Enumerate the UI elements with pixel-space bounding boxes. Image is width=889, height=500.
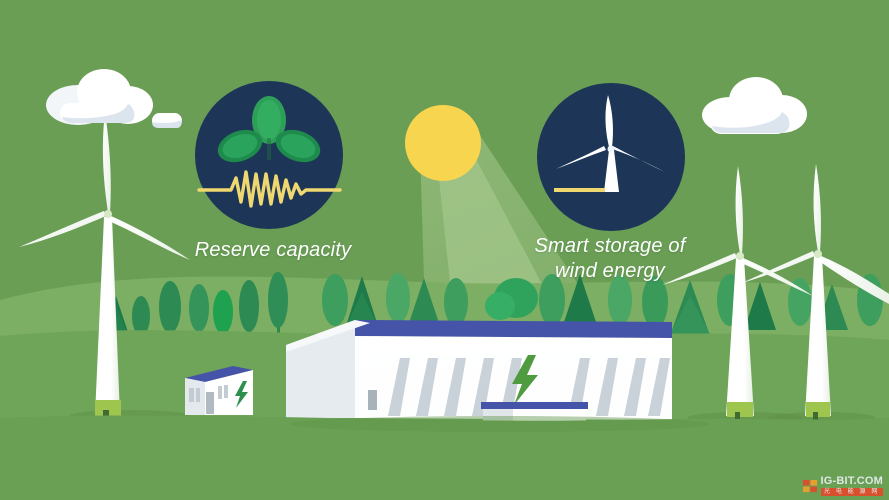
house-gable-wall [185, 378, 205, 415]
watermark: IG-BIT.COM 光 电 能 源 网 [803, 476, 884, 496]
house-door [206, 392, 214, 414]
turbine-hub [104, 210, 112, 218]
tree [386, 273, 410, 323]
building-roof [344, 320, 672, 338]
watermark-subtitle: 光 电 能 源 网 [821, 488, 884, 496]
turbine-hub [814, 250, 822, 258]
building-ground-shadow [290, 416, 710, 432]
icon-smart-storage [537, 83, 685, 231]
icon-reserve-capacity [195, 81, 343, 229]
tree [322, 274, 348, 326]
scene-artwork [0, 0, 889, 500]
annex-roof [481, 402, 588, 409]
tree [444, 278, 468, 326]
label-smart-storage: Smart storage of wind energy [480, 234, 740, 284]
small-cloud-icon [152, 113, 182, 128]
sun-icon [405, 105, 481, 181]
building-door [368, 390, 377, 410]
watermark-domain: IG-BIT.COM [821, 476, 884, 487]
label-reserve-capacity: Reserve capacity [168, 238, 378, 263]
illustration-scene: Reserve capacity Smart storage of wind e… [0, 0, 889, 500]
turbine-hub [608, 146, 615, 153]
watermark-text: IG-BIT.COM 光 电 能 源 网 [821, 476, 884, 496]
ig-bit-logo-icon [803, 479, 818, 494]
